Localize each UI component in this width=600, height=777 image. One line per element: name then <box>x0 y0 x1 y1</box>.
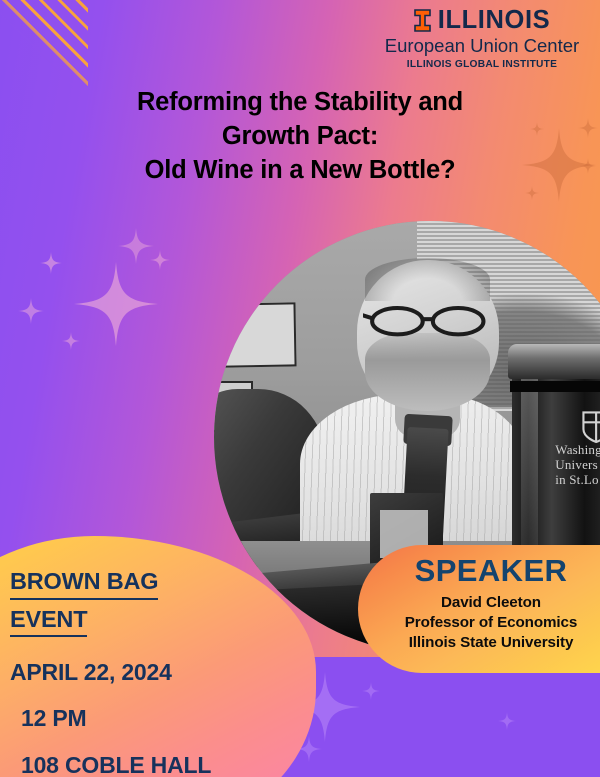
logo-wordmark: ILLINOIS <box>438 8 550 34</box>
photo-wall-frame <box>222 302 296 368</box>
event-heading-wrap: BROWN BAG <box>10 566 280 600</box>
illinois-european-union-center-logo: ILLINOIS European Union Center ILLINOIS … <box>382 8 582 70</box>
photo-mug-band <box>510 381 600 392</box>
title-line: Old Wine in a New Bottle? <box>26 154 574 188</box>
speaker-affiliation: Illinois State University <box>380 633 600 653</box>
event-poster: Washing Univers in St.Lo ILLINOIS Europe… <box>0 0 600 777</box>
sparkle-star-icon <box>150 250 170 270</box>
sparkle-star-icon <box>40 252 62 274</box>
logo-unit-name: European Union Center <box>382 35 582 57</box>
photo-mug-lid <box>508 344 600 379</box>
mug-text-line: Univers <box>555 458 600 473</box>
illinois-block-i-icon <box>414 9 431 32</box>
sparkle-star-icon <box>62 332 80 350</box>
speaker-role: Professor of Economics <box>380 613 600 633</box>
event-details: BROWN BAG EVENT APRIL 22, 2024 12 PM 108… <box>10 566 280 777</box>
sparkle-star-icon <box>118 228 154 264</box>
title-line: Growth Pact: <box>26 120 574 154</box>
event-heading-wrap: EVENT <box>10 604 280 638</box>
logo-primary-row: ILLINOIS <box>382 8 582 34</box>
photo-beard <box>365 333 490 411</box>
glasses-icon <box>363 305 493 337</box>
title-line: Reforming the Stability and <box>26 86 574 120</box>
event-date: APRIL 22, 2024 <box>10 659 280 686</box>
logo-institute-name: ILLINOIS GLOBAL INSTITUTE <box>382 59 582 70</box>
mug-text-line: Washing <box>555 443 600 458</box>
event-time: 12 PM <box>10 705 280 732</box>
event-heading-line1: BROWN BAG <box>10 566 158 600</box>
speaker-panel: SPEAKER David Cleeton Professor of Econo… <box>358 545 600 673</box>
event-heading-line2: EVENT <box>10 604 87 638</box>
sparkle-star-icon <box>525 186 539 200</box>
diagonal-stripes-top-left <box>0 0 88 86</box>
photo-hair <box>365 258 490 301</box>
speaker-label: SPEAKER <box>380 554 600 588</box>
speaker-name: David Cleeton <box>380 593 600 613</box>
sparkle-star-icon <box>18 298 44 324</box>
mug-text-line: in St.Lo <box>555 473 600 488</box>
sparkle-star-icon <box>74 262 158 346</box>
page-title: Reforming the Stability and Growth Pact:… <box>0 86 600 188</box>
event-location: 108 COBLE HALL <box>10 752 280 777</box>
photo-mug-text: Washing Univers in St.Lo <box>555 443 600 487</box>
washu-shield-icon <box>581 411 600 443</box>
